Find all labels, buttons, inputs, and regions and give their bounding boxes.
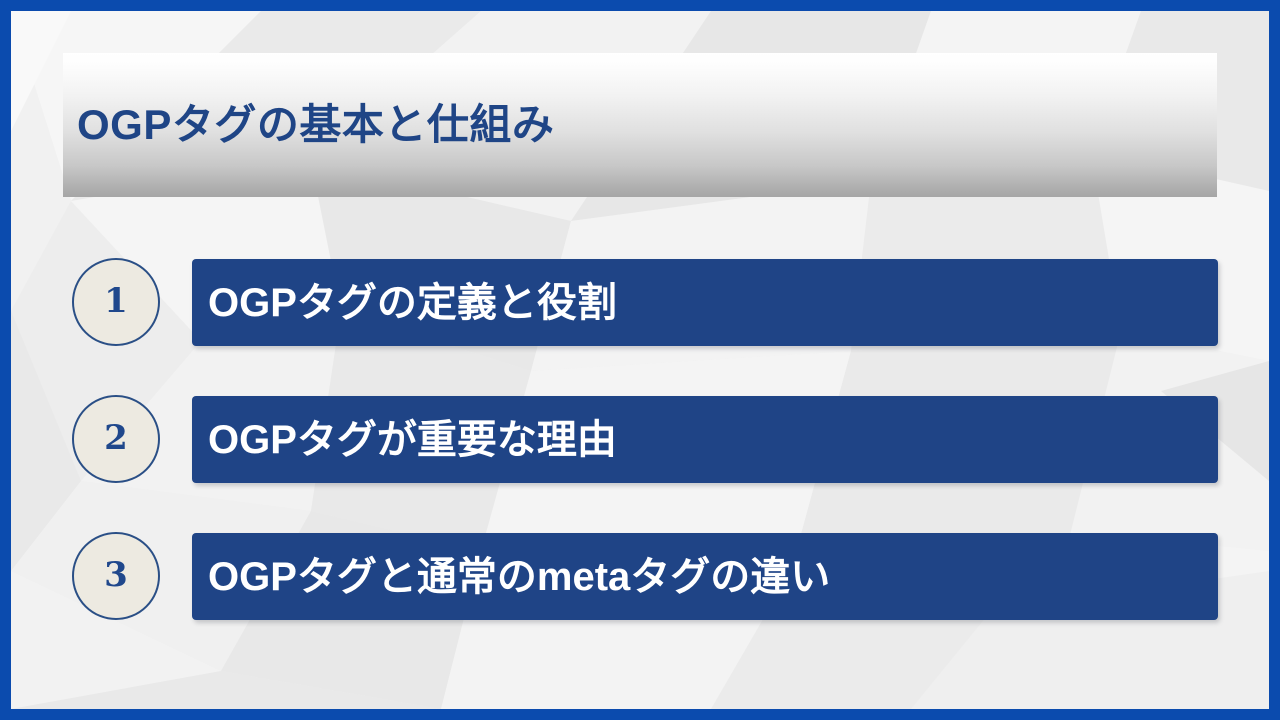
agenda-number-badge: 1 — [72, 258, 160, 346]
agenda-number-label: 3 — [104, 558, 128, 592]
agenda-item-row: 3 OGPタグと通常のmetaタグの違い — [11, 532, 1269, 622]
agenda-item-row: 1 OGPタグの定義と役割 — [11, 258, 1269, 348]
agenda-item-bar[interactable]: OGPタグの定義と役割 — [192, 259, 1218, 346]
agenda-number-badge: 2 — [72, 395, 160, 483]
agenda-item-bar[interactable]: OGPタグが重要な理由 — [192, 396, 1218, 483]
agenda-item-label: OGPタグが重要な理由 — [208, 418, 617, 462]
agenda-number-label: 2 — [104, 421, 128, 455]
agenda-item-bar[interactable]: OGPタグと通常のmetaタグの違い — [192, 533, 1218, 620]
agenda-number-label: 1 — [104, 284, 128, 318]
agenda-item-label: OGPタグと通常のmetaタグの違い — [208, 555, 830, 599]
page-title: OGPタグの基本と仕組み — [77, 102, 554, 148]
slide-canvas: OGPタグの基本と仕組み 1 OGPタグの定義と役割 2 OGPタグが重要な理由… — [11, 11, 1269, 709]
slide-frame: OGPタグの基本と仕組み 1 OGPタグの定義と役割 2 OGPタグが重要な理由… — [0, 0, 1280, 720]
agenda-item-label: OGPタグの定義と役割 — [208, 281, 617, 325]
agenda-number-badge: 3 — [72, 532, 160, 620]
slide-title-plate: OGPタグの基本と仕組み — [63, 53, 1217, 197]
agenda-item-row: 2 OGPタグが重要な理由 — [11, 395, 1269, 485]
